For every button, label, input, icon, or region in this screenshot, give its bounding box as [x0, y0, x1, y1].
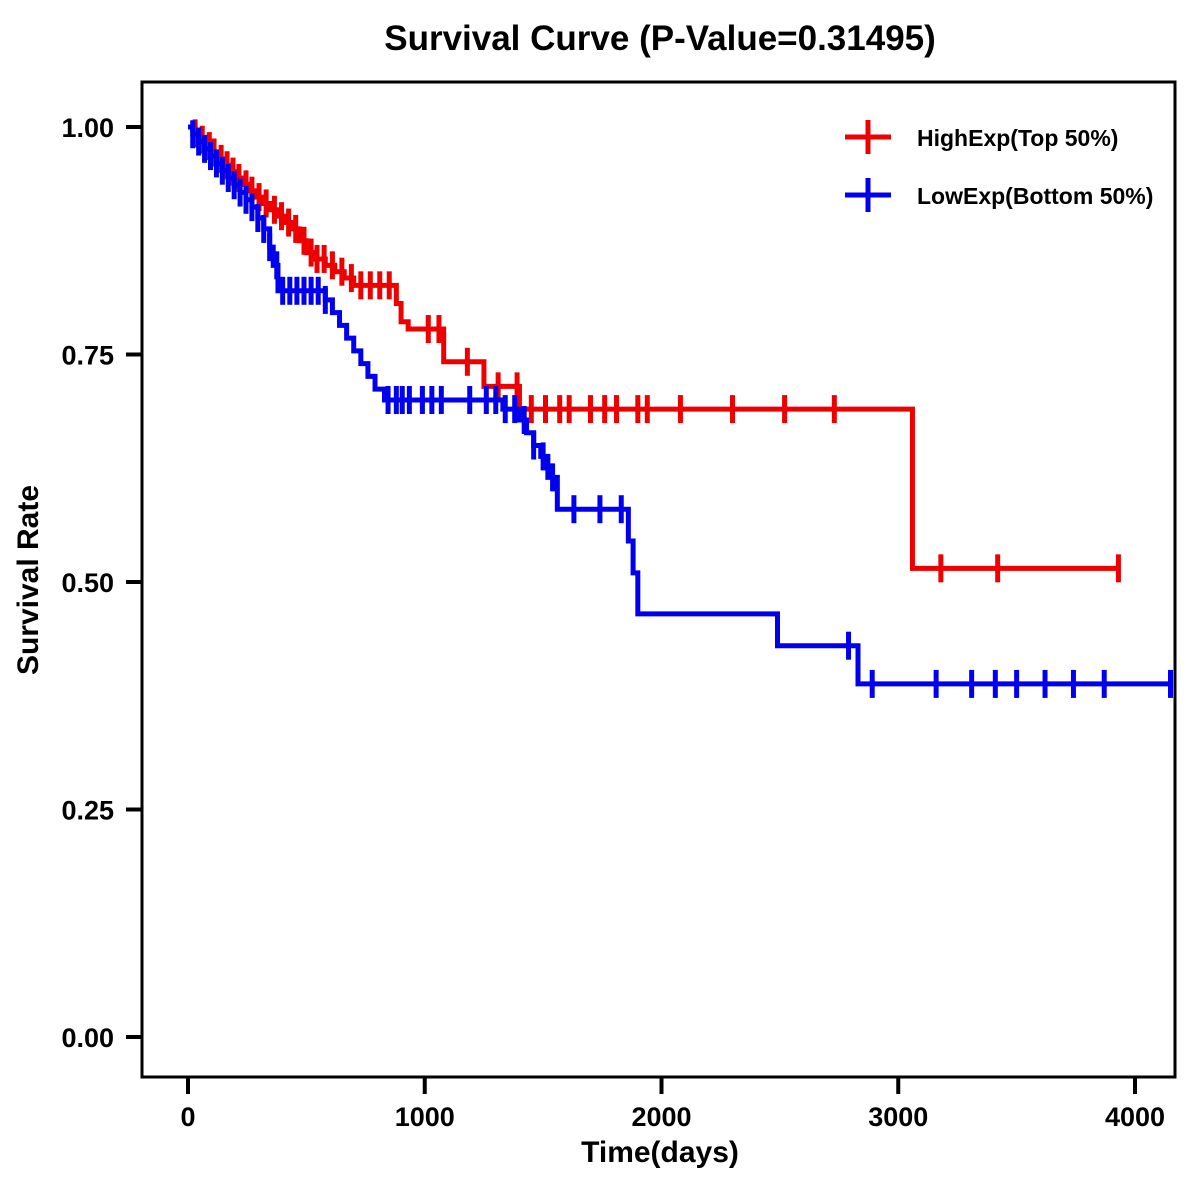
y-tick-label: 1.00 [61, 113, 114, 143]
y-tick-label: 0.75 [61, 341, 114, 371]
x-tick-label: 4000 [1105, 1102, 1165, 1132]
x-tick-label: 0 [180, 1102, 195, 1132]
y-tick-label: 0.00 [61, 1023, 114, 1053]
y-axis-title: Survival Rate [12, 485, 45, 675]
survival-curve-chart: Survival Curve (P-Value=0.31495) 0100020… [0, 0, 1200, 1200]
x-tick-label: 2000 [631, 1102, 691, 1132]
x-tick-label: 1000 [395, 1102, 455, 1132]
chart-title: Survival Curve (P-Value=0.31495) [384, 19, 936, 58]
chart-root: Survival Curve (P-Value=0.31495) 0100020… [0, 0, 1200, 1200]
x-axis-title: Time(days) [581, 1136, 739, 1169]
x-tick-label: 3000 [868, 1102, 928, 1132]
y-tick-label: 0.50 [61, 568, 114, 598]
legend-label[interactable]: LowExp(Bottom 50%) [917, 183, 1153, 209]
chart-background [0, 0, 1200, 1200]
y-tick-label: 0.25 [61, 796, 114, 826]
legend-label[interactable]: HighExp(Top 50%) [917, 125, 1118, 151]
